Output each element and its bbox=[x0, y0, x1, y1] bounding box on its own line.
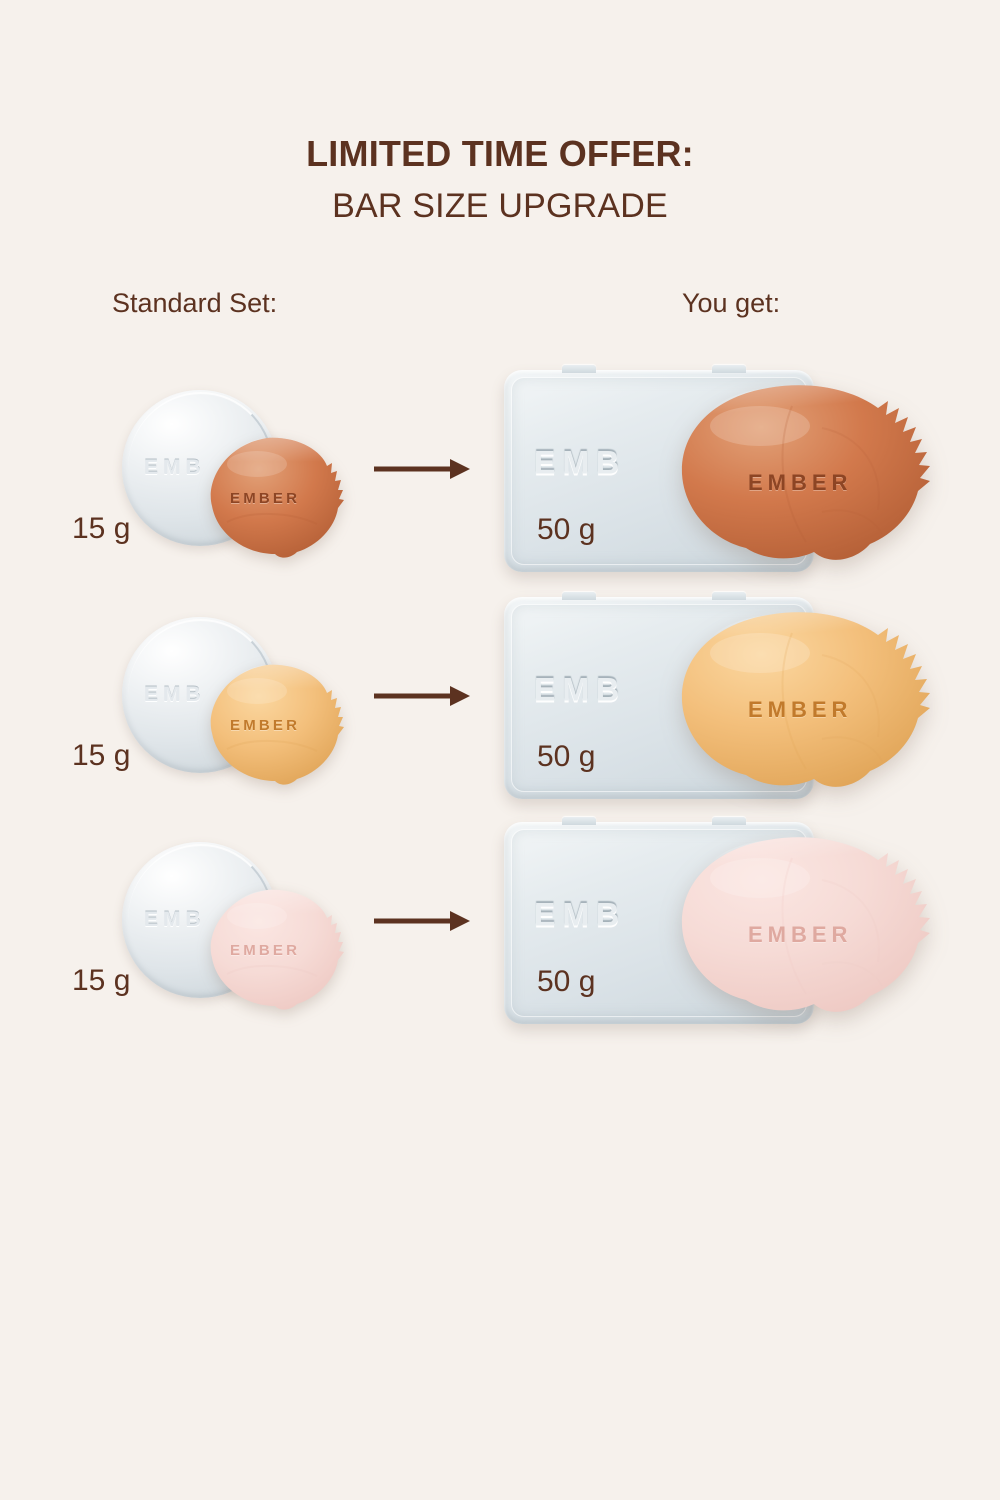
weight-label-upgraded: 50 g bbox=[537, 965, 595, 999]
tin-emboss-text: EMB bbox=[144, 456, 206, 480]
product-row-amber: 15 g EMB EMBER bbox=[0, 587, 1000, 807]
tin-emboss-text: EMB bbox=[144, 908, 206, 932]
soap-bar-small-amber[interactable]: EMBER bbox=[205, 663, 349, 787]
arrow-right-icon bbox=[374, 456, 470, 482]
soap-bar-small-terracotta[interactable]: EMBER bbox=[205, 436, 349, 560]
arrow-right-icon bbox=[374, 683, 470, 709]
comparison-rows: 15 g EMB EMBER bbox=[0, 0, 1000, 1500]
soap-bar-large-terracotta[interactable]: EMBER bbox=[672, 382, 940, 580]
tin-hinge-left-icon bbox=[562, 365, 596, 373]
soap-bar-small-blush[interactable]: EMBER bbox=[205, 888, 349, 1012]
weight-label-standard: 15 g bbox=[72, 964, 130, 998]
soap-bar-large-amber[interactable]: EMBER bbox=[672, 609, 940, 807]
weight-label-standard: 15 g bbox=[72, 512, 130, 546]
tin-emboss-text: EMB bbox=[534, 444, 626, 481]
product-row-blush: 15 g EMB EMBER bbox=[0, 812, 1000, 1032]
tin-hinge-right-icon bbox=[712, 817, 746, 825]
soap-bar-large-blush[interactable]: EMBER bbox=[672, 834, 940, 1032]
product-row-terracotta: 15 g EMB EMBER bbox=[0, 360, 1000, 580]
tin-hinge-right-icon bbox=[712, 592, 746, 600]
tin-hinge-left-icon bbox=[562, 817, 596, 825]
tin-hinge-left-icon bbox=[562, 592, 596, 600]
tin-emboss-text: EMB bbox=[534, 671, 626, 708]
weight-label-upgraded: 50 g bbox=[537, 513, 595, 547]
arrow-right-icon bbox=[374, 908, 470, 934]
weight-label-standard: 15 g bbox=[72, 739, 130, 773]
tin-emboss-text: EMB bbox=[144, 683, 206, 707]
tin-emboss-text: EMB bbox=[534, 896, 626, 933]
promo-page: { "theme": { "background": "#f6f1ec", "i… bbox=[0, 0, 1000, 1500]
weight-label-upgraded: 50 g bbox=[537, 740, 595, 774]
tin-hinge-right-icon bbox=[712, 365, 746, 373]
